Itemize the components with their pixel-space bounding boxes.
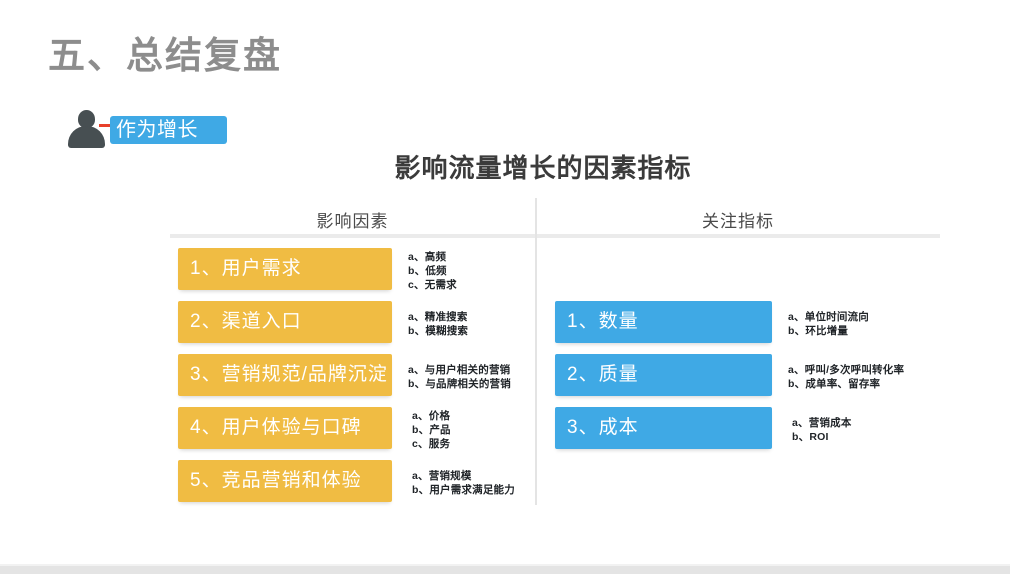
factor-bar-1[interactable]: 1、用户需求	[178, 248, 392, 290]
person-body-shape	[68, 126, 105, 148]
factor-notes-4: a、价格b、产品c、服务	[412, 409, 451, 451]
section-title: 五、总结复盘	[48, 36, 282, 77]
person-icon	[66, 110, 106, 148]
factor-bar-3[interactable]: 3、营销规范/品牌沉淀	[178, 354, 392, 396]
factor-notes-3: a、与用户相关的营销b、与品牌相关的营销	[408, 363, 511, 391]
factor-bar-2[interactable]: 2、渠道入口	[178, 301, 392, 343]
metric-bar-1[interactable]: 1、数量	[555, 301, 772, 343]
metric-notes-2: a、呼叫/多次呼叫转化率b、成单率、留存率	[788, 363, 904, 391]
factor-notes-2: a、精准搜索b、模糊搜索	[408, 310, 468, 338]
slide-canvas: 五、总结复盘 作为增长 影响流量增长的因素指标 影响因素 关注指标 1、用户需求…	[0, 0, 1010, 574]
metric-bar-3[interactable]: 3、成本	[555, 407, 772, 449]
column-divider	[535, 198, 537, 505]
factor-bar-4[interactable]: 4、用户体验与口碑	[178, 407, 392, 449]
header-rule	[170, 234, 940, 238]
factor-bar-5[interactable]: 5、竞品营销和体验	[178, 460, 392, 502]
metric-notes-1: a、单位时间流向b、环比增量	[788, 310, 869, 338]
footer-band	[0, 566, 1010, 574]
metric-bar-2[interactable]: 2、质量	[555, 354, 772, 396]
column-header-left: 影响因素	[170, 207, 535, 232]
role-badge: 作为增长	[110, 116, 227, 144]
chart-title: 影响流量增长的因素指标	[0, 148, 1010, 185]
chart-title-text: 影响流量增长的因素指标	[394, 153, 691, 183]
metric-notes-3: a、营销成本b、ROI	[792, 416, 852, 444]
factor-notes-1: a、高频b、低频c、无需求	[408, 250, 457, 292]
factor-notes-5: a、营销规模b、用户需求满足能力	[412, 469, 515, 497]
column-header-right: 关注指标	[536, 207, 940, 232]
